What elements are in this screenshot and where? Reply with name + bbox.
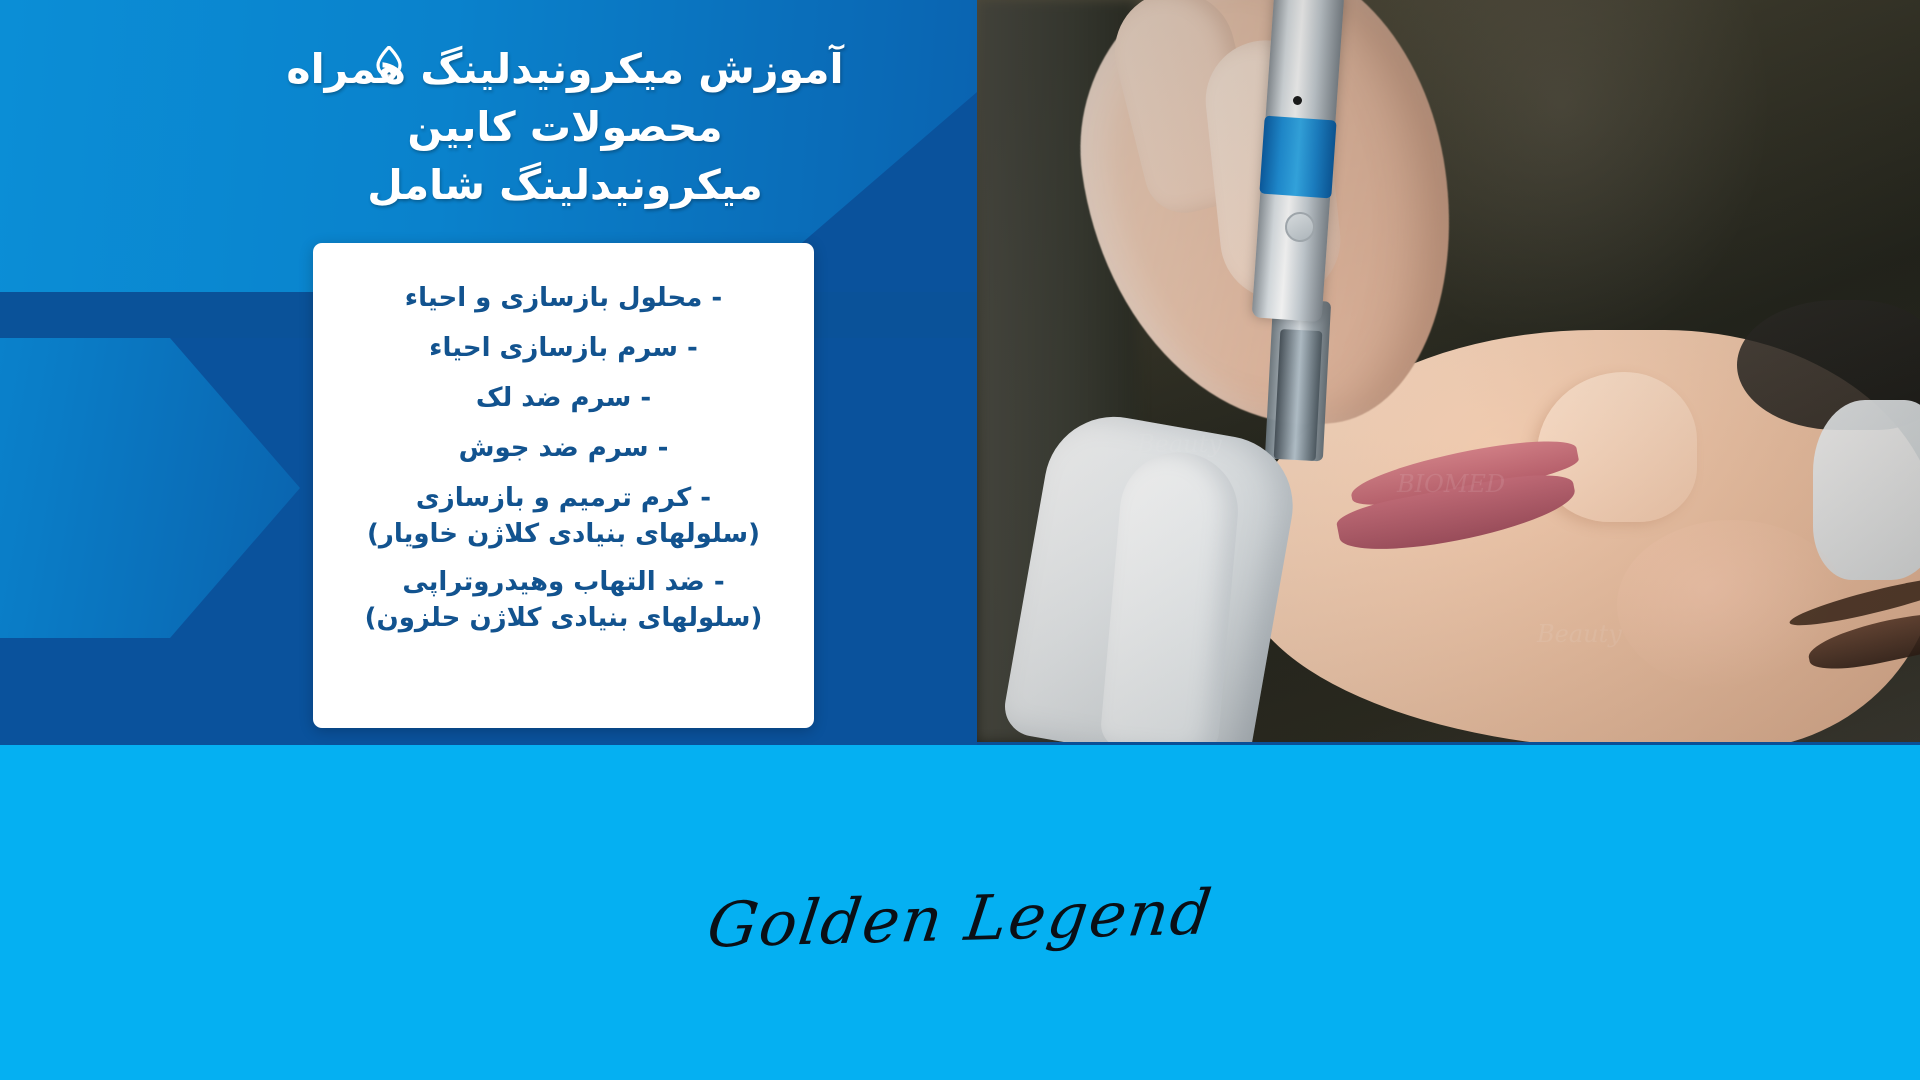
derma-pen-blue-ring bbox=[1259, 116, 1336, 199]
list-item: - سرم بازسازی احیاء bbox=[337, 335, 790, 361]
list-item: - سرم ضد لک bbox=[337, 385, 790, 411]
list-item: - ضد التهاب وهیدروتراپی bbox=[337, 569, 790, 595]
list-item: - کرم ترمیم و بازسازی bbox=[337, 485, 790, 511]
derma-pen-cartridge bbox=[1274, 329, 1323, 461]
list-item: - محلول بازسازی و احیاء bbox=[337, 285, 790, 311]
list-item: (سلولهای بنیادی کلاژن حلزون) bbox=[337, 605, 790, 631]
background-arrow-shape bbox=[0, 338, 300, 638]
treatment-photo: Beauty BIOMED Beauty bbox=[977, 0, 1920, 742]
brand-signature: Golden Legend bbox=[0, 751, 1920, 1080]
title-line-1: آموزش میکرونیدلینگ همراه bbox=[265, 40, 865, 98]
towel bbox=[1813, 400, 1920, 580]
promo-slide: آموزش میکرونیدلینگ همراه محصولات کابین م… bbox=[0, 0, 1920, 1080]
list-item: (سلولهای بنیادی کلاژن خاویار) bbox=[337, 521, 790, 547]
title-line-3: میکرونیدلینگ شامل bbox=[265, 156, 865, 214]
list-item: - سرم ضد جوش bbox=[337, 435, 790, 461]
brand-signature-text: Golden Legend bbox=[703, 875, 1217, 961]
slide-title: آموزش میکرونیدلینگ همراه محصولات کابین م… bbox=[265, 40, 865, 215]
product-list: - محلول بازسازی و احیاء - سرم بازسازی اح… bbox=[337, 285, 790, 653]
title-line-2: محصولات کابین bbox=[265, 98, 865, 156]
derma-pen-indicator bbox=[1293, 96, 1302, 105]
product-list-card: - محلول بازسازی و احیاء - سرم بازسازی اح… bbox=[313, 243, 814, 728]
